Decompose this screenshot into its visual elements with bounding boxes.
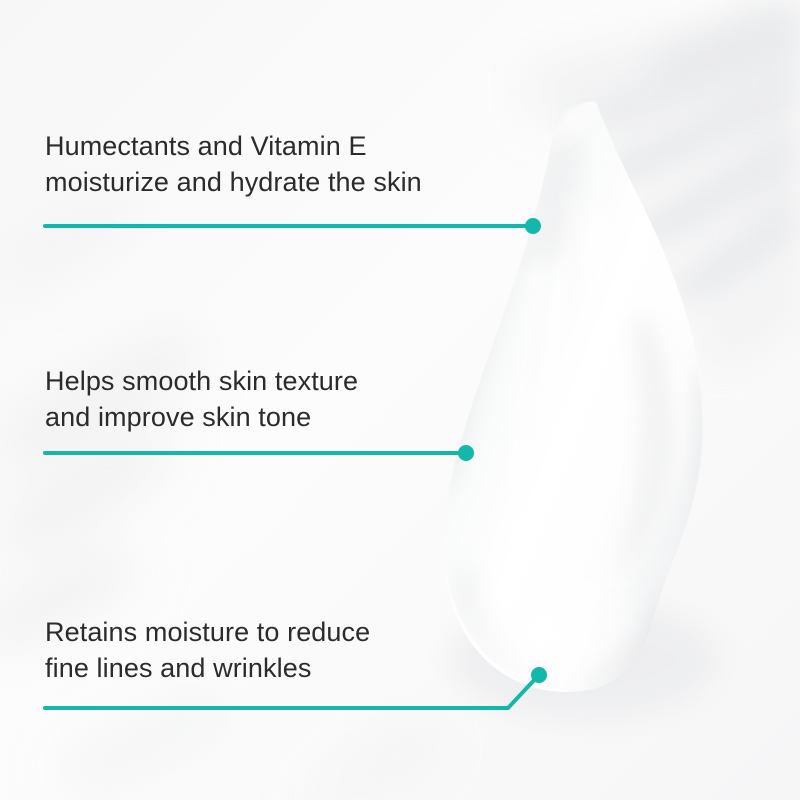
leader-dot-3 bbox=[531, 667, 547, 683]
callout-2-text: Helps smooth skin texture and improve sk… bbox=[45, 363, 358, 435]
callout-3-text: Retains moisture to reduce fine lines an… bbox=[45, 614, 370, 686]
product-benefits-infographic: Humectants and Vitamin E moisturize and … bbox=[0, 0, 800, 800]
callout-3: Retains moisture to reduce fine lines an… bbox=[45, 614, 370, 686]
callout-1-text: Humectants and Vitamin E moisturize and … bbox=[45, 128, 422, 200]
leader-dot-1 bbox=[525, 218, 541, 234]
cream-blob-body bbox=[443, 102, 704, 692]
callout-2: Helps smooth skin texture and improve sk… bbox=[45, 363, 358, 435]
leader-dot-2 bbox=[458, 445, 474, 461]
callout-1: Humectants and Vitamin E moisturize and … bbox=[45, 128, 422, 200]
cream-blob-peak-notch bbox=[550, 101, 597, 151]
